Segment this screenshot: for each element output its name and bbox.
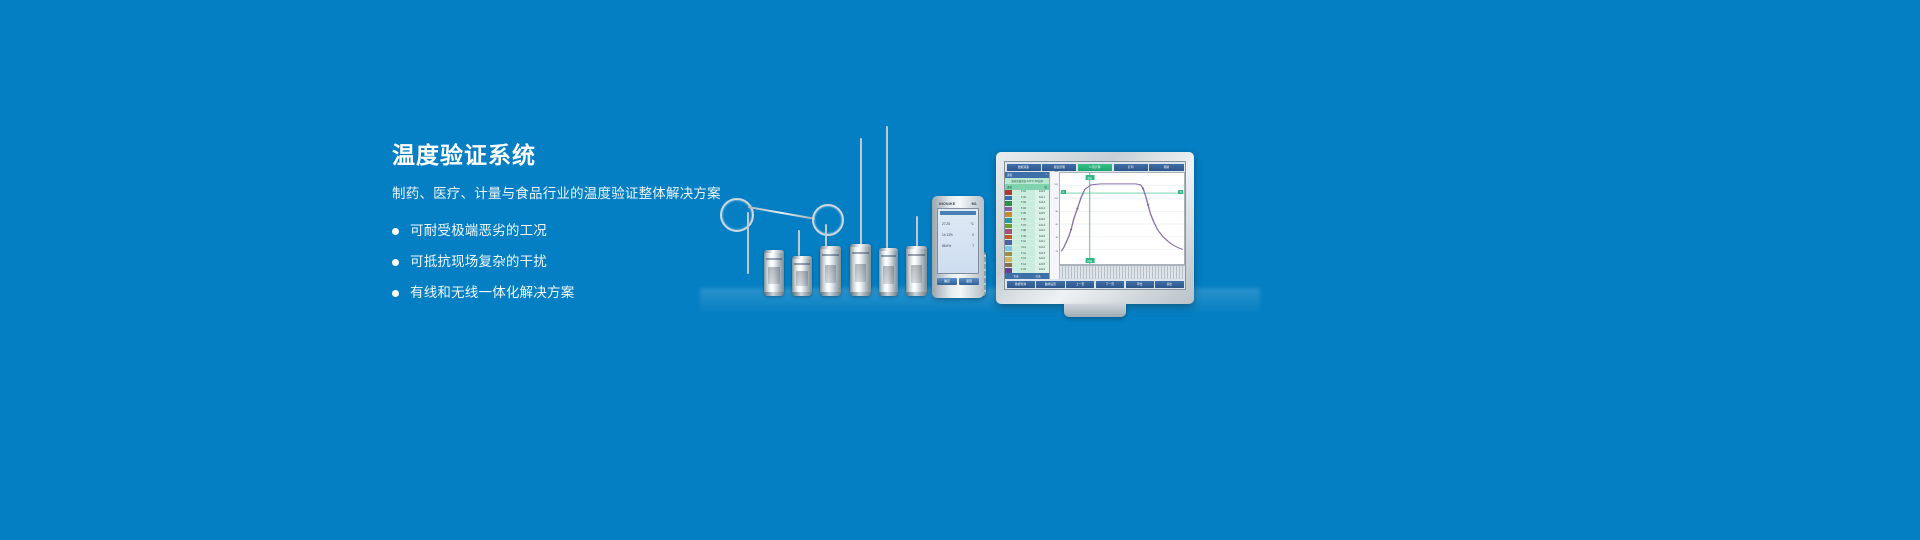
legend-channel-value: 121.0 — [1035, 218, 1049, 223]
software-screen: 数据采集 报表管理 F-值计算 打印 帮助 通道 × — [1004, 161, 1186, 290]
handheld-readout-row: 14.13% 0 — [940, 233, 976, 237]
logger-label — [911, 265, 923, 283]
app-body: 通道 × 湿热灭菌验证-121℃-30分钟 通道 值 T-01121.3T-02… — [1005, 172, 1185, 279]
app-footer: 数据查询 曲线设置 上一页 下一页 导出 退出 — [1005, 279, 1185, 289]
logger-label — [768, 267, 779, 284]
legend-color-swatch — [1005, 212, 1012, 217]
handheld-key-confirm[interactable]: 确定 — [937, 278, 957, 285]
marker-chip-b[interactable]: B — [1178, 190, 1183, 194]
legend-color-swatch — [1005, 207, 1012, 212]
y-axis-tick: 120 — [1054, 184, 1058, 186]
y-axis-tick: 100 — [1054, 198, 1058, 200]
legend-channel-name: T-12 — [1012, 252, 1035, 257]
logger-body — [820, 246, 841, 296]
logger-body — [906, 246, 927, 296]
logger-label — [883, 266, 894, 283]
legend-color-swatch — [1005, 224, 1012, 229]
logger-band — [822, 254, 839, 256]
toolbar-button-reports[interactable]: 报表管理 — [1042, 164, 1076, 171]
toolbar-button-help[interactable]: 帮助 — [1149, 164, 1183, 171]
timeline-ticks — [1059, 266, 1185, 279]
logger-body — [879, 248, 898, 296]
logger-body — [850, 244, 871, 296]
legend-channel-value: 121.6 — [1035, 235, 1049, 240]
legend-invert[interactable]: 反选 — [1035, 274, 1040, 278]
handheld-titlebar — [940, 211, 976, 215]
y-axis-tick: 140 — [1054, 171, 1058, 173]
monitor-stand — [1064, 304, 1126, 317]
monitor-bezel: 数据采集 报表管理 F-值计算 打印 帮助 通道 × — [996, 152, 1194, 304]
legend-channel-name: T-01 — [1012, 190, 1035, 195]
logger-label — [796, 271, 807, 285]
legend-channel-value: 121.3 — [1035, 190, 1049, 195]
handheld-readout-value: ℃ — [970, 222, 974, 226]
legend-channel-value: 121.4 — [1035, 246, 1049, 251]
workstation-monitor: INONIKE 数据采集 报表管理 F-值计算 打印 帮助 — [996, 152, 1194, 304]
legend-color-swatch — [1005, 229, 1012, 234]
logger-label — [855, 264, 867, 283]
handheld-keypad: 确定 返回 — [937, 278, 979, 285]
legend-row-list[interactable]: T-01121.3T-02121.1T-03121.4T-04121.2T-05… — [1005, 190, 1049, 273]
probe-coil-ring — [812, 204, 844, 236]
legend-channel-value: 121.0 — [1035, 257, 1049, 262]
y-axis-tick: 40 — [1056, 237, 1058, 239]
legend-channel-value: 121.4 — [1035, 201, 1049, 206]
handheld-readout-row: 27.25 ℃ — [940, 222, 976, 226]
handheld-readout-value: 0 — [972, 233, 974, 237]
handheld-brand-row: INONIKE M1 — [937, 201, 979, 208]
logger-band — [908, 254, 925, 256]
legend-channel-name: T-04 — [1012, 207, 1035, 212]
logger-body — [764, 250, 784, 296]
cursor-chip-time[interactable]: 时间 — [1085, 258, 1094, 263]
probe-wire — [748, 206, 815, 220]
logger-band — [881, 255, 896, 257]
legend-title: 通道 — [1007, 173, 1012, 177]
legend-color-swatch — [1005, 190, 1012, 195]
legend-channel-value: 121.3 — [1035, 252, 1049, 257]
close-icon[interactable]: × — [1045, 173, 1047, 177]
legend-channel-value: 121.3 — [1035, 224, 1049, 229]
legend-channel-name: T-10 — [1012, 240, 1035, 245]
toolbar-button-print[interactable]: 打印 — [1114, 164, 1148, 171]
toolbar-button-fvalue[interactable]: F-值计算 — [1078, 164, 1112, 171]
legend-color-swatch — [1005, 235, 1012, 240]
handheld-key-back[interactable]: 返回 — [959, 278, 979, 285]
y-axis-tick: 80 — [1056, 211, 1058, 213]
handheld-model: M1 — [972, 202, 977, 206]
legend-channel-value: 121.5 — [1035, 263, 1049, 268]
footer-button-exit[interactable]: 退出 — [1155, 281, 1183, 288]
legend-color-swatch — [1005, 201, 1012, 206]
chart-series-t01 — [1061, 184, 1183, 251]
feature-label: 可耐受极端恶劣的工况 — [410, 222, 547, 240]
footer-button-query[interactable]: 数据查询 — [1007, 281, 1035, 288]
legend-color-swatch — [1005, 246, 1012, 251]
chart-svg — [1060, 173, 1184, 264]
footer-button-export[interactable]: 导出 — [1126, 281, 1154, 288]
legend-channel-name: T-14 — [1012, 263, 1035, 268]
handheld-readout-value: 7 — [972, 244, 974, 248]
chart-area: 20406080100120140 — [1050, 172, 1185, 279]
logger-band — [852, 252, 869, 254]
footer-button-next-page[interactable]: 下一页 — [1096, 281, 1124, 288]
stem-probe-mini — [798, 230, 800, 256]
legend-color-swatch — [1005, 257, 1012, 262]
footer-button-prev-page[interactable]: 上一页 — [1066, 281, 1094, 288]
legend-channel-name: T-13 — [1012, 257, 1035, 262]
legend-channel-name: T-06 — [1012, 218, 1035, 223]
legend-color-swatch — [1005, 252, 1012, 257]
bullet-dot-icon — [392, 290, 399, 297]
logger-band — [794, 263, 810, 265]
legend-color-swatch — [1005, 196, 1012, 201]
legend-channel-name: T-11 — [1012, 246, 1035, 251]
handheld-readout-row: 86.6% 7 — [940, 244, 976, 248]
legend-channel-value: 121.1 — [1035, 240, 1049, 245]
legend-color-swatch — [1005, 240, 1012, 245]
legend-channel-name: T-03 — [1012, 201, 1035, 206]
legend-color-swatch — [1005, 218, 1012, 223]
logger-body — [792, 256, 812, 296]
legend-channel-value: 121.2 — [1035, 229, 1049, 234]
legend-channel-value: 121.2 — [1035, 207, 1049, 212]
logger-band — [766, 258, 782, 260]
y-axis-tick: 20 — [1056, 251, 1058, 253]
legend-channel-name: T-07 — [1012, 224, 1035, 229]
feature-label: 有线和无线一体化解决方案 — [410, 284, 574, 302]
legend-channel-name: T-08 — [1012, 229, 1035, 234]
handheld-readout-label: 27.25 — [942, 222, 950, 226]
chart-main: 20406080100120140 — [1050, 172, 1185, 265]
y-axis-tick: 60 — [1056, 224, 1058, 226]
timeline-scrollbar[interactable] — [1059, 265, 1185, 279]
channel-legend-panel: 通道 × 湿热灭菌验证-121℃-30分钟 通道 值 T-01121.3T-02… — [1005, 172, 1050, 279]
bullet-dot-icon — [392, 228, 399, 235]
legend-select-all[interactable]: 全选 — [1013, 274, 1018, 278]
probe-stem — [747, 212, 749, 274]
handheld-readout-label: 14.13% — [942, 233, 953, 237]
chart-canvas[interactable]: 游标 A B 时间 — [1059, 172, 1185, 265]
bullet-dot-icon — [392, 259, 399, 266]
chart-gridlines — [1060, 186, 1184, 250]
legend-color-swatch — [1005, 263, 1012, 268]
needle-probe-tallest — [886, 126, 888, 268]
legend-channel-name: T-05 — [1012, 212, 1035, 217]
toolbar-button-acquire[interactable]: 数据采集 — [1007, 164, 1041, 171]
legend-channel-name: T-09 — [1012, 235, 1035, 240]
feature-label: 可抵抗现场复杂的干扰 — [410, 253, 547, 271]
legend-col-value: 值 — [1044, 185, 1047, 189]
y-axis: 20406080100120140 — [1050, 172, 1059, 265]
handheld-reader[interactable]: INONIKE M1 27.25 ℃ 14.13% 0 86.6% 7 — [932, 196, 984, 298]
legend-channel-value: 121.5 — [1035, 212, 1049, 217]
legend-channel-name: T-02 — [1012, 196, 1035, 201]
handheld-brand: INONIKE — [939, 202, 955, 206]
marker-chip-a[interactable]: A — [1061, 190, 1066, 194]
app-toolbar: 数据采集 报表管理 F-值计算 打印 帮助 — [1005, 162, 1185, 172]
footer-button-curve-settings[interactable]: 曲线设置 — [1036, 281, 1064, 288]
logger-label — [825, 265, 837, 283]
handheld-readout-label: 86.6% — [942, 244, 951, 248]
legend-channel-value: 121.1 — [1035, 196, 1049, 201]
legend-col-channel: 通道 — [1007, 185, 1012, 189]
handheld-screen: 27.25 ℃ 14.13% 0 86.6% 7 — [937, 208, 979, 274]
product-photo: INONIKE M1 27.25 ℃ 14.13% 0 86.6% 7 — [700, 120, 1260, 320]
hero-banner: 温度验证系统 制药、医疗、计量与食品行业的温度验证整体解决方案 可耐受极端恶劣的… — [0, 0, 1920, 540]
stem-probe-short — [916, 216, 918, 250]
cursor-chip-label[interactable]: 游标 — [1085, 175, 1094, 180]
